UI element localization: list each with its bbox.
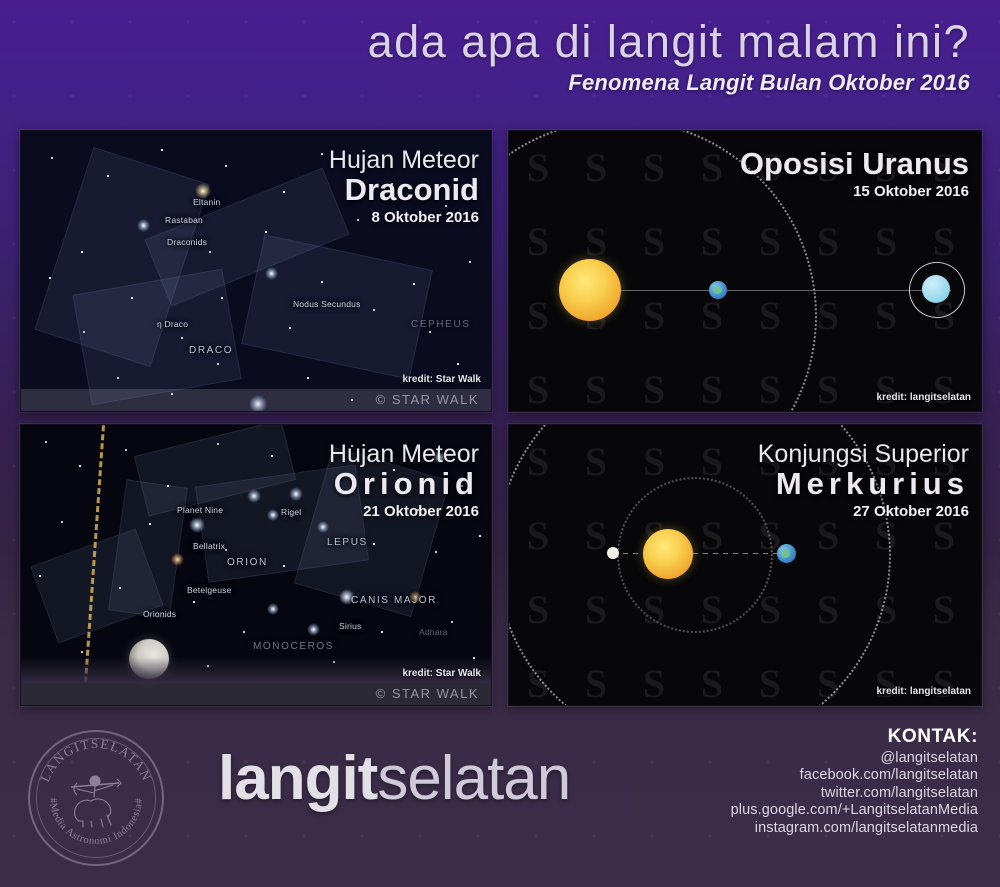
- star-label: Nodus Secundus: [293, 299, 361, 309]
- starwalk-watermark-bar: © STAR WALK: [21, 389, 491, 411]
- earth-body: [777, 544, 796, 563]
- mercury-body: [607, 547, 619, 559]
- constellation-label: MONOCEROS: [253, 641, 334, 652]
- star-label: Adhara: [419, 627, 448, 637]
- alignment-axis: [579, 290, 951, 291]
- starwalk-watermark: © STAR WALK: [376, 686, 479, 701]
- panel-credit: kredit: langitselatan: [877, 686, 971, 697]
- star-label: Rigel: [281, 507, 301, 517]
- panel-title: Oposisi Uranus: [740, 147, 969, 181]
- panel-date: 27 Oktober 2016: [758, 503, 969, 520]
- star-label: Sirius: [339, 621, 361, 631]
- panel-merkurius[interactable]: SSSSSSSSSSSSSSSSSSSSSSSSSSSSSSSSSSSSSSSS…: [508, 424, 982, 706]
- wordmark-bold: langit: [218, 744, 377, 813]
- contact-handle[interactable]: @langitselatan: [731, 750, 978, 766]
- poster-root: ada apa di langit malam ini? Fenomena La…: [0, 0, 1000, 887]
- panel-title-uranus: Oposisi Uranus 15 Oktober 2016: [740, 147, 969, 200]
- alignment-axis: [613, 553, 791, 554]
- wordmark-light: selatan: [377, 744, 570, 813]
- star-label: Betelgeuse: [187, 585, 232, 595]
- page-title: ada apa di langit malam ini?: [0, 16, 970, 68]
- sun-body: [643, 529, 693, 579]
- star-label: Planet Nine: [177, 505, 223, 515]
- panel-title: Draconid: [329, 173, 479, 207]
- panel-title-merkurius: Konjungsi Superior Merkurius 27 Oktober …: [758, 441, 969, 520]
- contact-gplus[interactable]: plus.google.com/+LangitselatanMedia: [731, 802, 978, 818]
- panel-credit: kredit: Star Walk: [402, 668, 481, 679]
- panel-uranus[interactable]: SSSSSSSSSSSSSSSSSSSSSSSSSSSSSSSSSSSSSSSS…: [508, 130, 982, 412]
- star-label: η Draco: [157, 319, 188, 329]
- sun-body: [559, 259, 621, 321]
- contact-instagram[interactable]: instagram.com/langitselatanmedia: [731, 820, 978, 836]
- contact-twitter[interactable]: twitter.com/langitselatan: [731, 785, 978, 801]
- contact-block: KONTAK: @langitselatan facebook.com/lang…: [731, 726, 978, 836]
- constellation-label: CEPHEUS: [411, 319, 471, 330]
- langitselatan-logo: LANGITSELATAN #Media Astronomi Indonesia…: [28, 730, 164, 866]
- panel-date: 15 Oktober 2016: [740, 183, 969, 200]
- contact-heading: KONTAK:: [731, 726, 978, 748]
- panel-date: 21 Oktober 2016: [329, 503, 479, 520]
- star-label: Draconids: [167, 237, 207, 247]
- constellation-label: LEPUS: [327, 537, 368, 548]
- panel-title-orionid: Hujan Meteor Orionid 21 Oktober 2016: [329, 441, 479, 520]
- constellation-label: DRACO: [189, 345, 233, 356]
- star-label: Eltanin: [193, 197, 220, 207]
- constellation-label: CANIS MAJOR: [351, 595, 437, 606]
- star-label: Bellatrix: [193, 541, 225, 551]
- panel-title: Orionid: [329, 467, 479, 501]
- panel-title-draconid: Hujan Meteor Draconid 8 Oktober 2016: [329, 147, 479, 226]
- earth-body: [709, 281, 727, 299]
- langitselatan-wordmark: langitselatan: [218, 748, 570, 810]
- poster-header: ada apa di langit malam ini? Fenomena La…: [0, 16, 970, 96]
- constellation-label: ORION: [227, 557, 268, 568]
- panel-draconid[interactable]: Eltanin Rastaban Draconids Nodus Secundu…: [20, 130, 492, 412]
- panel-credit: kredit: Star Walk: [402, 374, 481, 385]
- contact-facebook[interactable]: facebook.com/langitselatan: [731, 767, 978, 783]
- star-label: Orionids: [143, 609, 176, 619]
- panel-kicker: Konjungsi Superior: [758, 441, 969, 467]
- starwalk-watermark-bar: © STAR WALK: [21, 683, 491, 705]
- panel-orionid[interactable]: Planet Nine Rigel Bellatrix ORION Betelg…: [20, 424, 492, 706]
- starwalk-watermark: © STAR WALK: [376, 392, 479, 407]
- star-label: Rastaban: [165, 215, 203, 225]
- panel-date: 8 Oktober 2016: [329, 209, 479, 226]
- uranus-body: [922, 275, 950, 303]
- panel-credit: kredit: langitselatan: [877, 392, 971, 403]
- panel-title: Merkurius: [758, 467, 969, 501]
- sagittarius-archer-icon: [61, 767, 131, 829]
- panel-kicker: Hujan Meteor: [329, 147, 479, 173]
- page-subtitle: Fenomena Langit Bulan Oktober 2016: [0, 70, 970, 96]
- panel-kicker: Hujan Meteor: [329, 441, 479, 467]
